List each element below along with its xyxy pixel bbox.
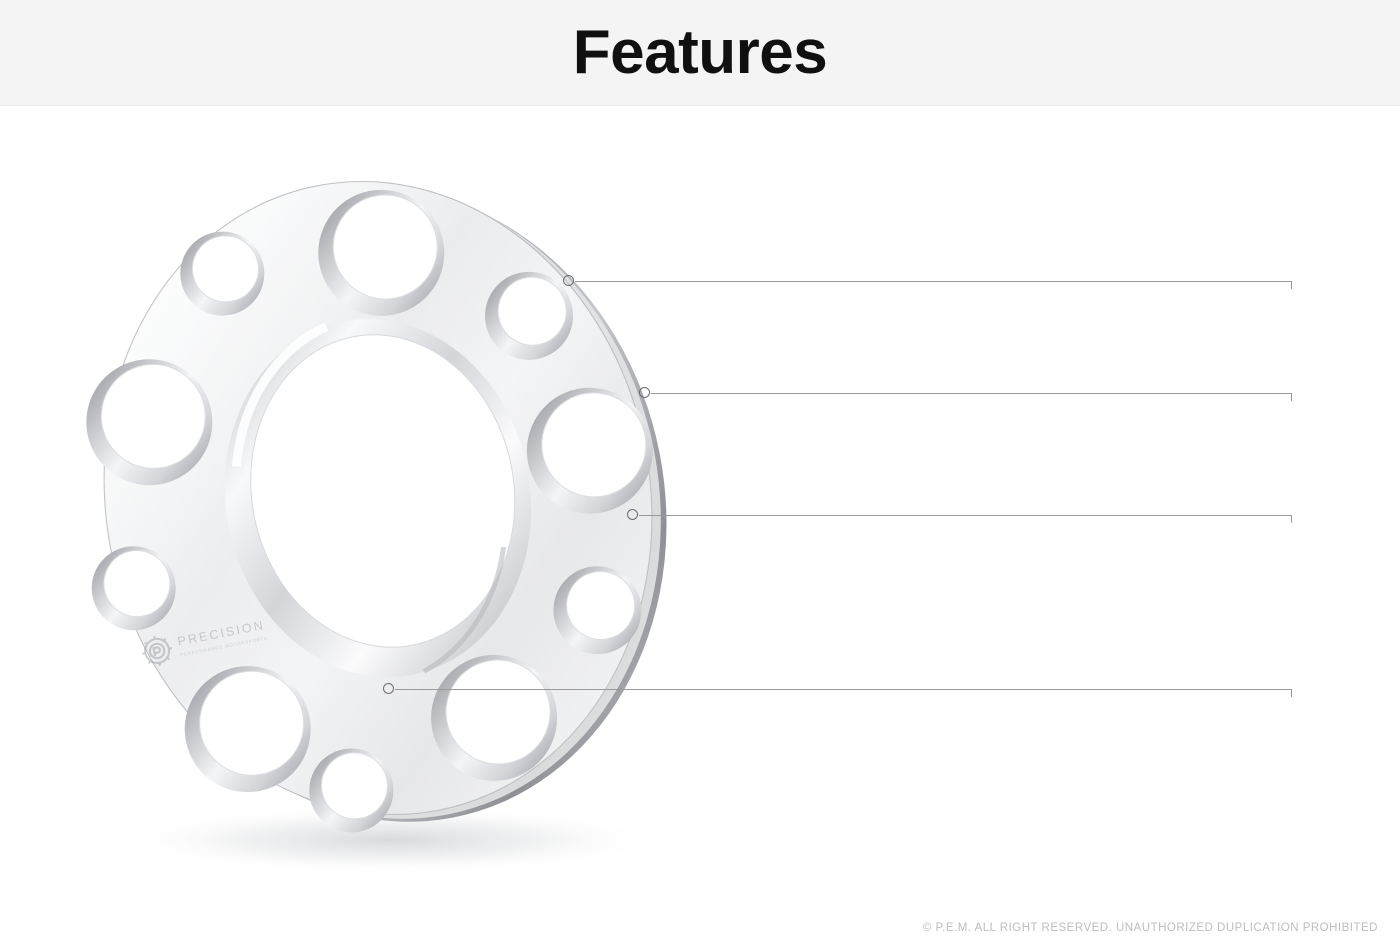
callout-rule-billet-aluminum (575, 281, 1292, 282)
product-image-wheel-spacer: PRECISION PERFORMANCE MOTORSPORTS (60, 140, 760, 900)
callout-dot-enlarged-holes (627, 509, 638, 520)
callout-rule-hubcentric-centerbore (395, 689, 1292, 690)
callout-tick-hubcentric-centerbore (1291, 689, 1292, 697)
features-page: Features (0, 0, 1400, 948)
callout-dot-billet-aluminum (563, 275, 574, 286)
callout-tick-anodized-surface (1291, 393, 1292, 401)
footer-copyright: © P.E.M. ALL RIGHT RESERVED. UNAUTHORIZE… (923, 922, 1378, 934)
callout-rule-enlarged-holes (639, 515, 1292, 516)
callout-tick-billet-aluminum (1291, 281, 1292, 289)
page-header: Features (0, 0, 1400, 106)
wheel-spacer-illustration: PRECISION PERFORMANCE MOTORSPORTS (60, 140, 760, 900)
callout-tick-enlarged-holes (1291, 515, 1292, 523)
spacer-body: PRECISION PERFORMANCE MOTORSPORTS (60, 140, 720, 877)
callout-dot-anodized-surface (639, 387, 650, 398)
callout-dot-hubcentric-centerbore (383, 683, 394, 694)
callout-rule-anodized-surface (651, 393, 1292, 394)
page-title: Features (0, 0, 1400, 106)
